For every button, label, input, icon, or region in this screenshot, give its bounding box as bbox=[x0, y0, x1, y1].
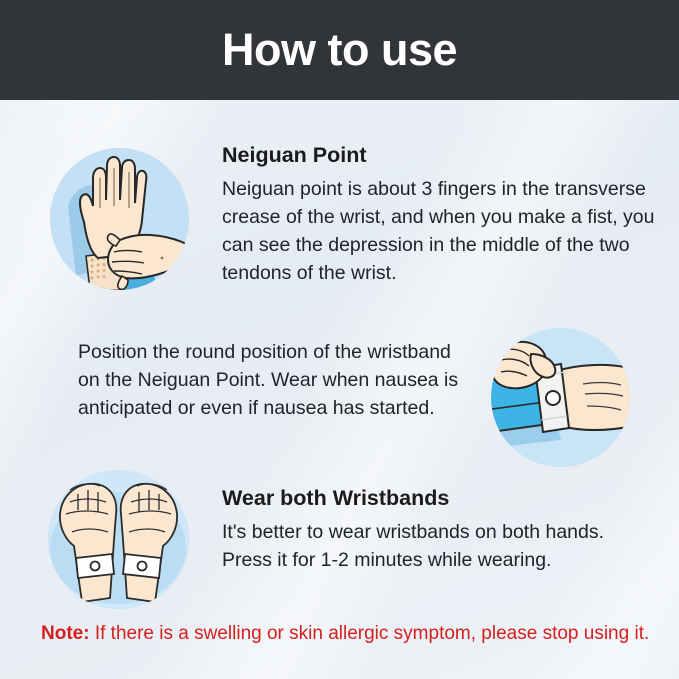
section-heading-neiguan-point: Neiguan Point bbox=[222, 143, 658, 169]
section-neiguan-point: Neiguan Point Neiguan point is about 3 f… bbox=[222, 143, 658, 287]
section-body-position-wristband: Position the round position of the wrist… bbox=[78, 338, 473, 422]
section-wear-both-wristbands: Wear both Wristbands It's better to wear… bbox=[222, 486, 642, 574]
page-title: How to use bbox=[222, 27, 457, 72]
section-body-neiguan-point: Neiguan point is about 3 fingers in the … bbox=[222, 175, 658, 287]
wristband-placement-illustration bbox=[491, 328, 630, 467]
wristband-on-wrist-icon bbox=[491, 328, 630, 467]
page-header: How to use bbox=[0, 0, 679, 100]
note-text: If there is a swelling or skin allergic … bbox=[95, 623, 649, 644]
note-label: Note: bbox=[41, 623, 90, 644]
two-fists-with-wristbands-icon bbox=[48, 470, 189, 609]
note-line: Note: If there is a swelling or skin all… bbox=[41, 622, 649, 647]
section-position-wristband: Position the round position of the wrist… bbox=[78, 338, 473, 422]
section-body-wear-both-wristbands: It's better to wear wristbands on both h… bbox=[222, 518, 642, 574]
section-heading-wear-both-wristbands: Wear both Wristbands bbox=[222, 486, 642, 512]
neiguan-point-illustration bbox=[50, 148, 189, 290]
how-to-use-page: How to use bbox=[0, 0, 679, 679]
wear-both-wristbands-illustration bbox=[48, 470, 189, 609]
hand-measuring-three-fingers-icon bbox=[50, 148, 189, 290]
